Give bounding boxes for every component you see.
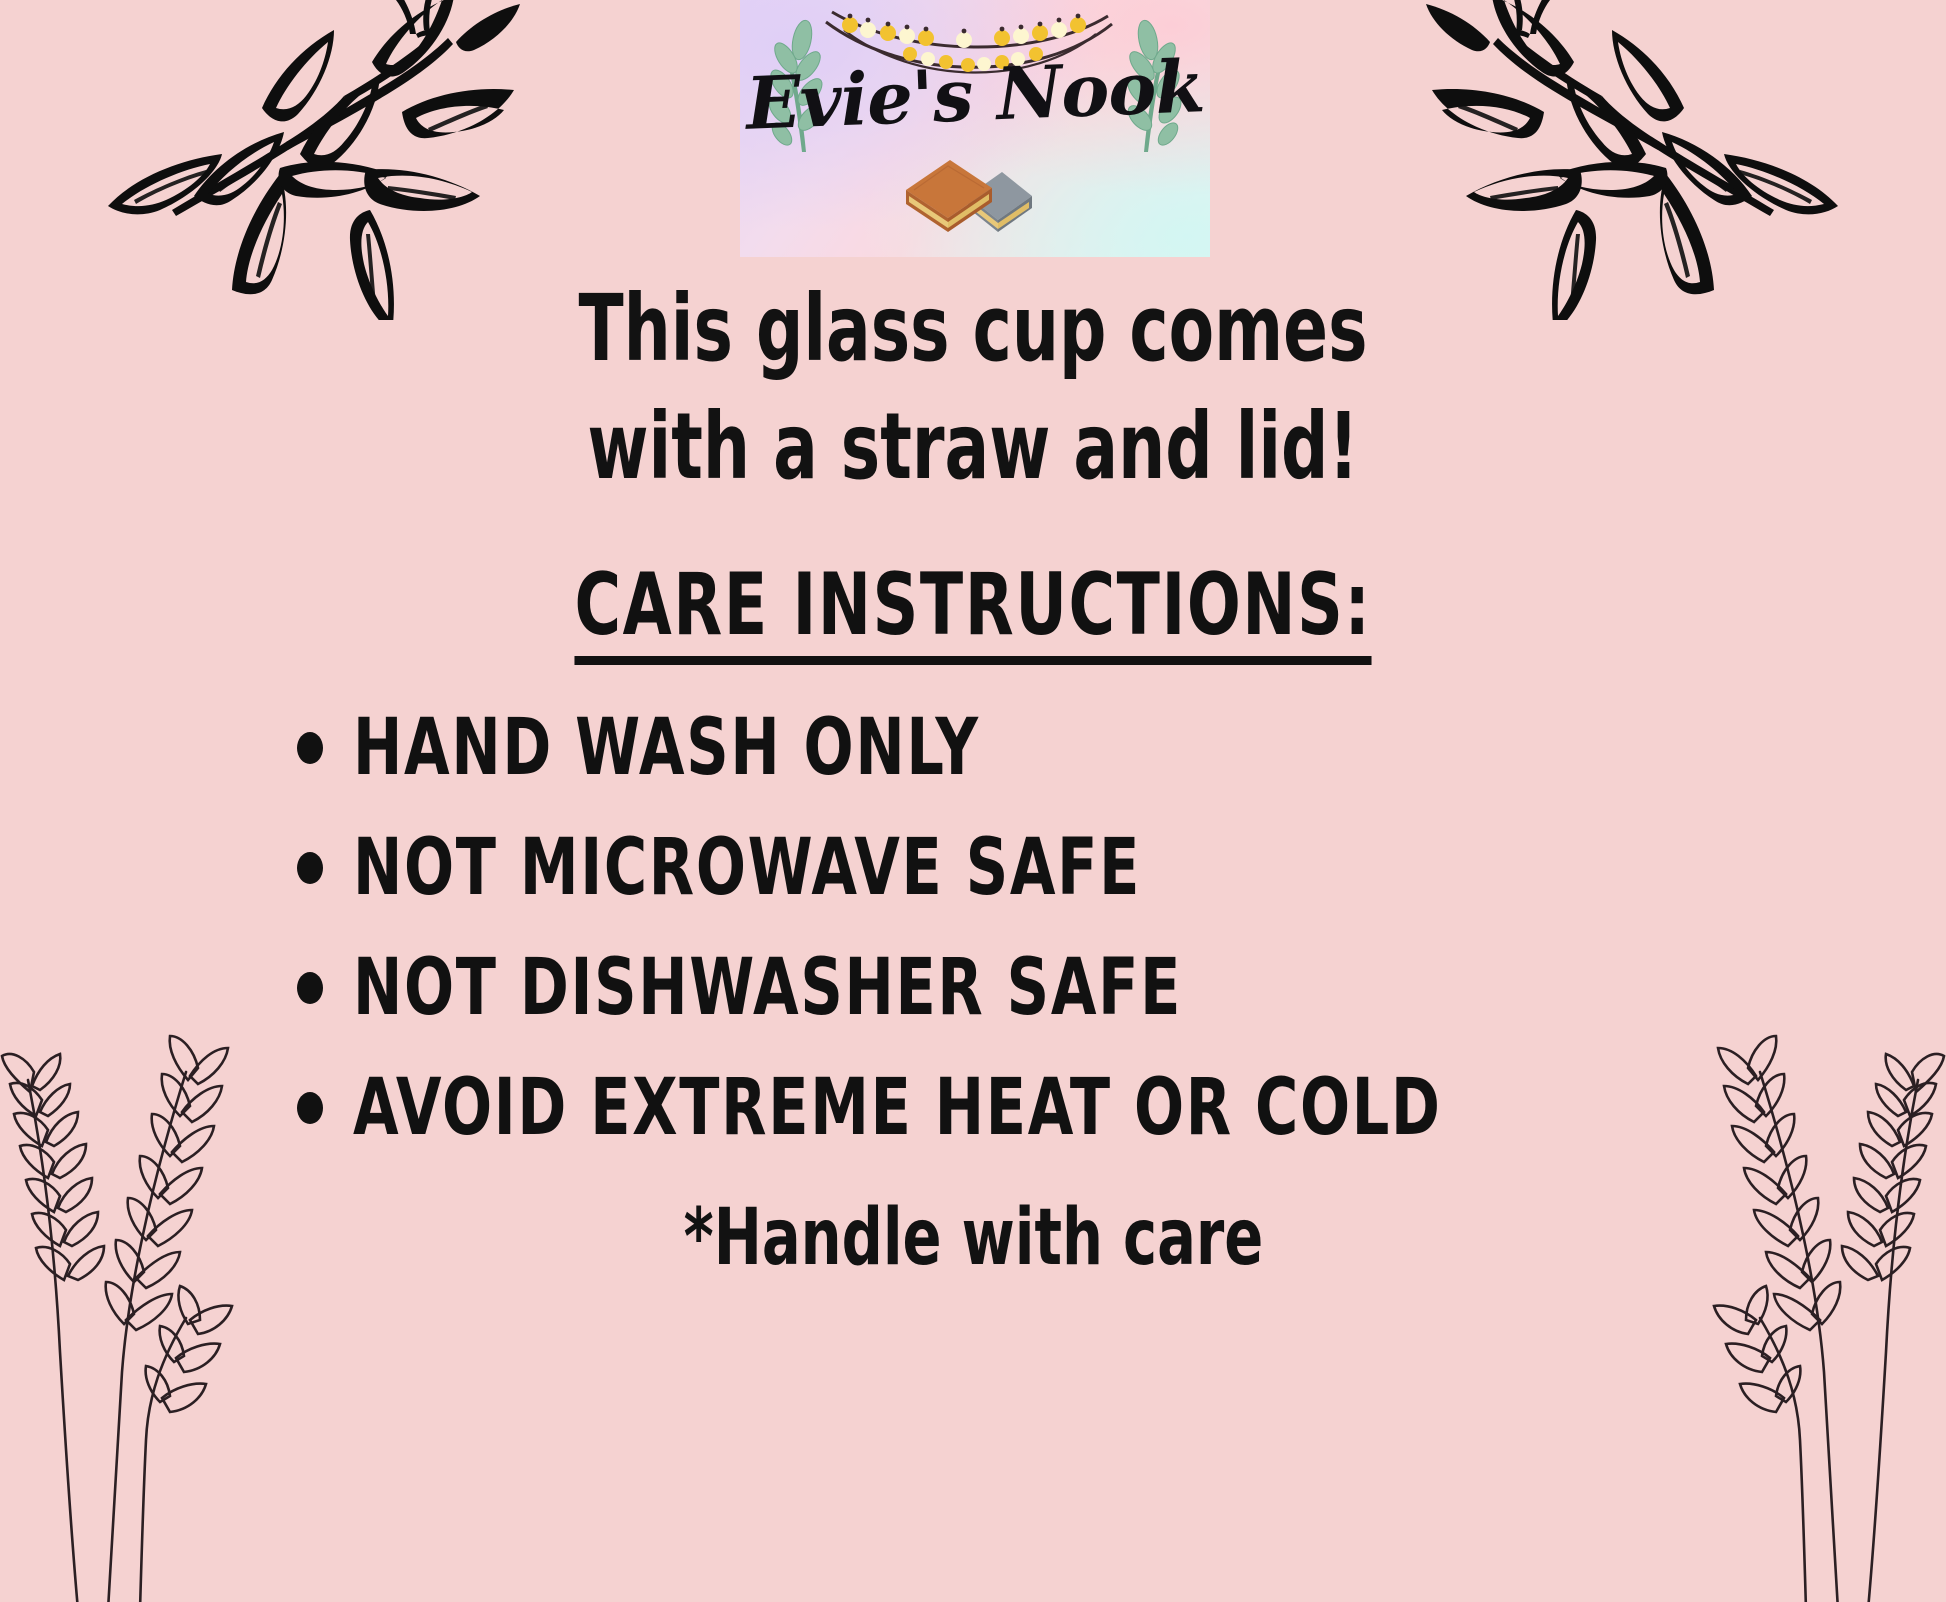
list-item: NOT MICROWAVE SAFE xyxy=(297,829,1649,907)
logo-wordmark: Evie's Nook xyxy=(740,43,1210,146)
headline-line-2: with a straw and lid! xyxy=(195,388,1752,506)
bullet-dot-icon xyxy=(297,852,323,884)
care-instructions-heading: CARE INSTRUCTIONS: xyxy=(574,558,1371,666)
list-item: AVOID EXTREME HEAT OR COLD xyxy=(297,1069,1649,1147)
care-instructions-card: Evie's Nook This glass cup comes with a … xyxy=(0,0,1946,1602)
list-item-label: AVOID EXTREME HEAT OR COLD xyxy=(353,1069,1442,1147)
bullet-dot-icon xyxy=(297,732,323,764)
list-item: NOT DISHWASHER SAFE xyxy=(297,949,1649,1027)
list-item-label: NOT MICROWAVE SAFE xyxy=(353,829,1141,907)
list-item: HAND WASH ONLY xyxy=(297,709,1649,787)
stacked-books-icon xyxy=(906,160,1032,232)
bullet-dot-icon xyxy=(297,972,323,1004)
content-area: This glass cup comes with a straw and li… xyxy=(0,258,1946,1277)
headline: This glass cup comes with a straw and li… xyxy=(195,258,1752,506)
headline-line-1: This glass cup comes xyxy=(195,270,1752,388)
list-item-label: HAND WASH ONLY xyxy=(353,709,980,787)
bullet-dot-icon xyxy=(297,1092,323,1124)
brand-logo-banner: Evie's Nook xyxy=(740,0,1210,257)
care-footnote: *Handle with care xyxy=(683,1199,1263,1277)
list-item-label: NOT DISHWASHER SAFE xyxy=(353,949,1182,1027)
care-instructions-list: HAND WASH ONLY NOT MICROWAVE SAFE NOT DI… xyxy=(297,709,1649,1147)
